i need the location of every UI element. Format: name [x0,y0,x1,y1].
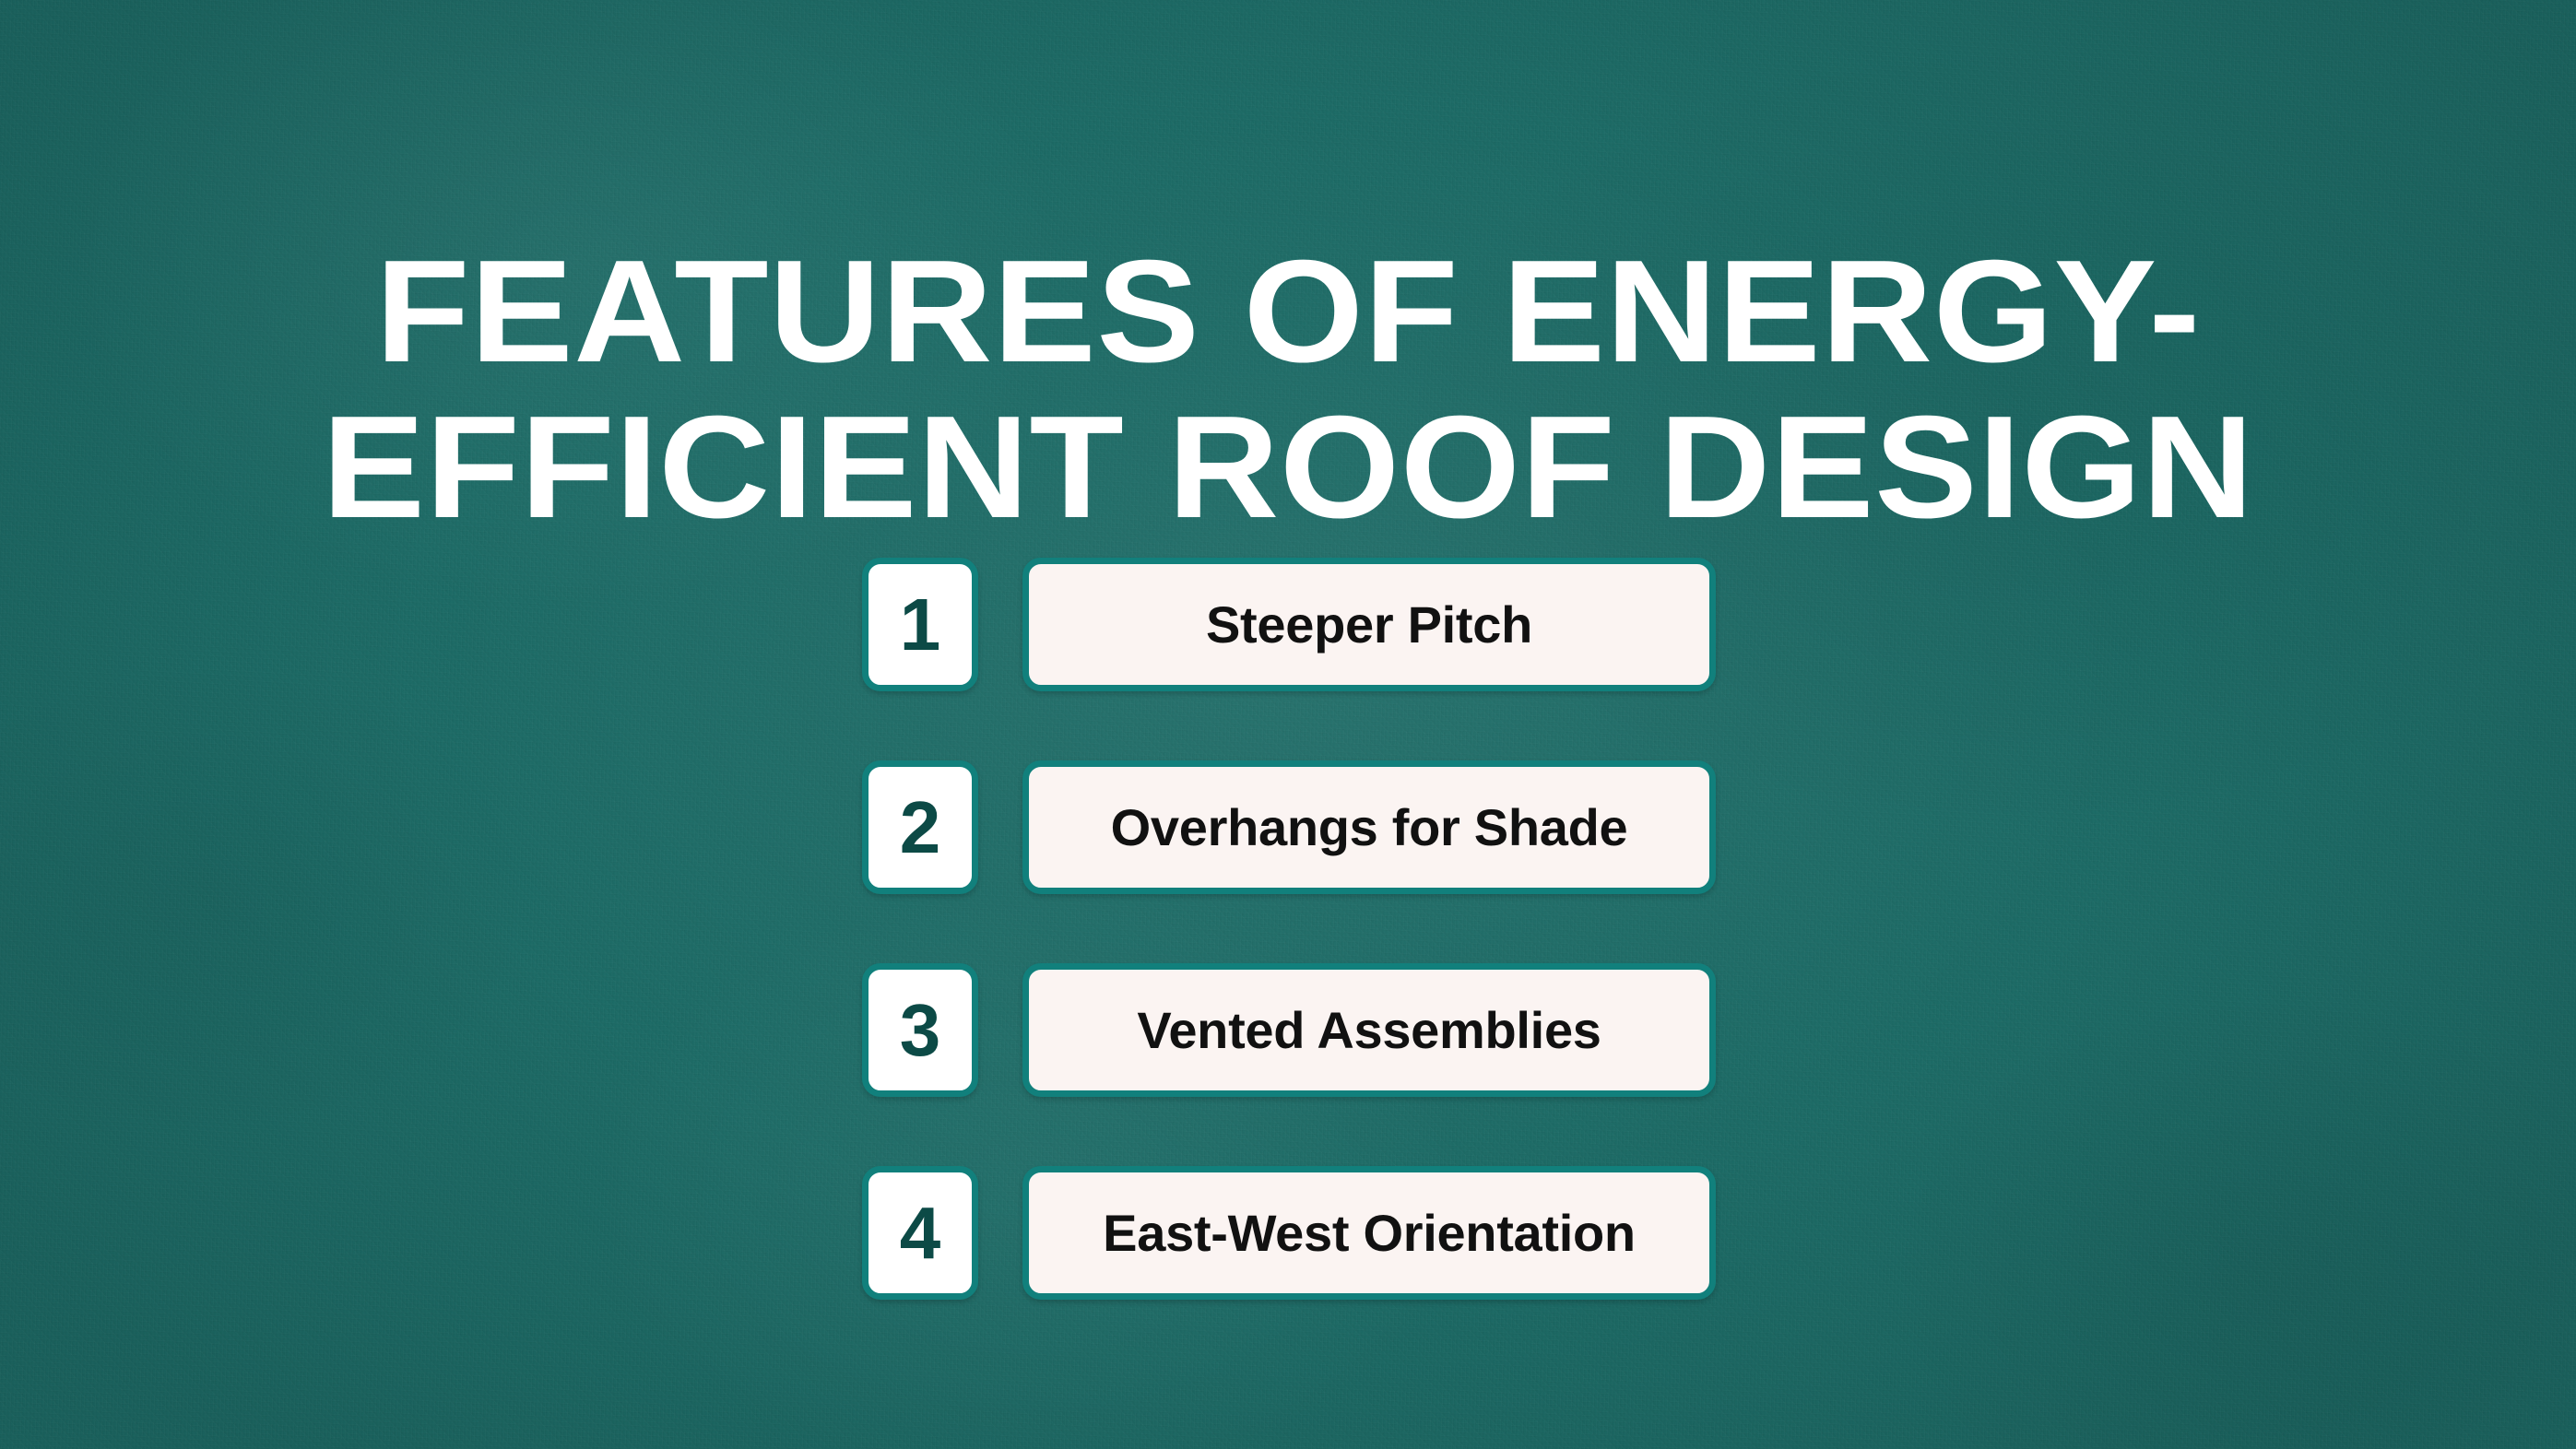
item-number-label: 2 [900,791,941,865]
item-label-card[interactable]: Vented Assemblies [1022,963,1716,1097]
item-number-badge: 4 [862,1166,978,1300]
list-item[interactable]: 1 Steeper Pitch [862,558,1716,691]
item-number-label: 1 [900,588,941,662]
item-label-card[interactable]: Overhangs for Shade [1022,760,1716,894]
list-item[interactable]: 2 Overhangs for Shade [862,760,1716,894]
item-number-badge: 1 [862,558,978,691]
list-item[interactable]: 3 Vented Assemblies [862,963,1716,1097]
slide-canvas: FEATURES OF ENERGY- EFFICIENT ROOF DESIG… [0,0,2576,1449]
item-label-text: Overhangs for Shade [1111,802,1628,854]
feature-list: 1 Steeper Pitch 2 Overhangs for Shade 3 … [862,558,1716,1300]
item-label-text: East-West Orientation [1103,1207,1636,1259]
item-label-card[interactable]: East-West Orientation [1022,1166,1716,1300]
item-label-text: Steeper Pitch [1206,599,1532,651]
list-item[interactable]: 4 East-West Orientation [862,1166,1716,1300]
item-number-badge: 3 [862,963,978,1097]
item-label-text: Vented Assemblies [1137,1005,1601,1056]
item-number-badge: 2 [862,760,978,894]
item-number-label: 3 [900,994,941,1067]
item-label-card[interactable]: Steeper Pitch [1022,558,1716,691]
item-number-label: 4 [900,1196,941,1270]
page-title: FEATURES OF ENERGY- EFFICIENT ROOF DESIG… [0,234,2576,546]
